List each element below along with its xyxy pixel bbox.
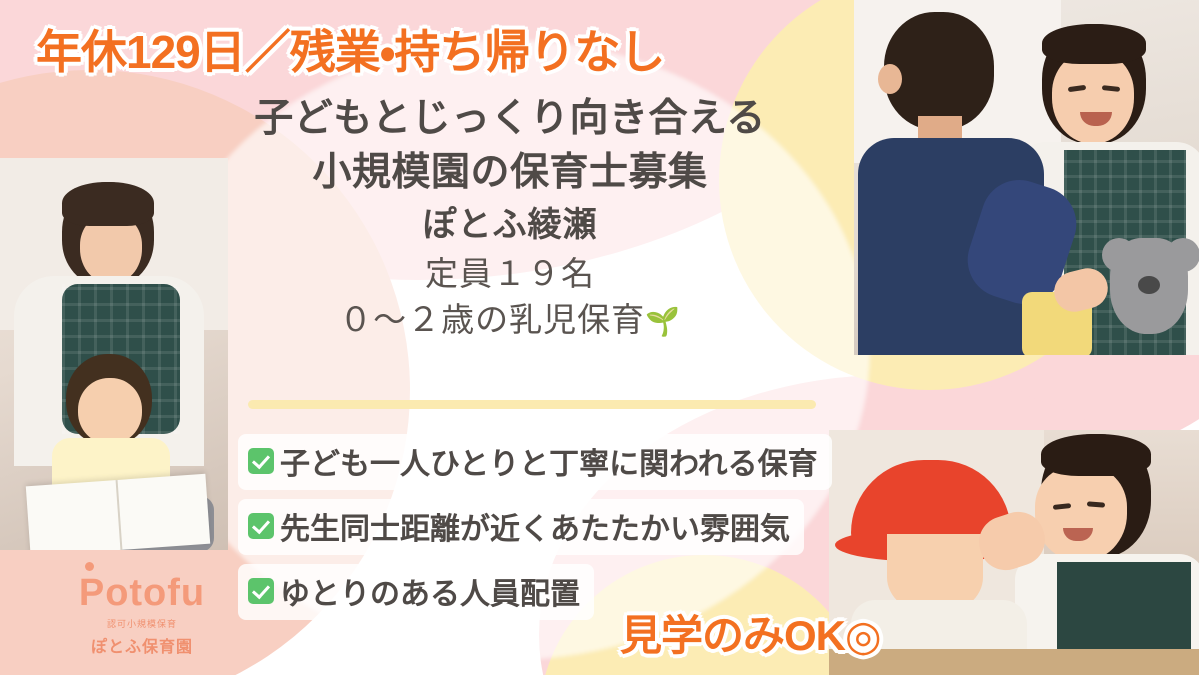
main-copy-line-2: 小規模園の保育士募集 [190,146,830,200]
capacity-text: 定員１９名 [190,251,830,298]
photo-teacher-with-child-in-red-hat [829,430,1199,675]
photo-teacher-smiling-with-boy-and-koala-plush [854,0,1199,355]
recruitment-poster: 年休129日／残業・持ち帰りなし 子どもとじっくり向き合える 小規模園の保育士募… [0,0,1199,675]
list-item-label: 先生同士距離が近くあたたかい雰囲気 [280,504,790,548]
logo-wordmark-text: Potofu [79,572,205,614]
list-item: 子ども一人ひとりと丁寧に関われる保育 [238,434,832,490]
list-item-label: ゆとりのある人員配置 [280,569,580,613]
potofu-logo: Potofu 認可小規模保育 ぽとふ保育園 [62,574,222,657]
logo-name: ぽとふ保育園 [62,633,222,657]
list-item: ゆとりのある人員配置 [238,564,594,620]
sprout-icon: 🌱 [645,306,681,337]
age-range-text: ０〜２歳の乳児保育🌱 [190,297,830,344]
visit-only-ok-note: 見学のみOK◎ [620,602,881,663]
age-range-label: ０〜２歳の乳児保育 [339,301,645,338]
check-mark-icon [248,448,274,474]
yellow-divider [248,400,816,409]
headline-banner: 年休129日／残業・持ち帰りなし [36,16,664,82]
check-mark-icon [248,578,274,604]
benefits-list: 子ども一人ひとりと丁寧に関われる保育 先生同士距離が近くあたたかい雰囲気 ゆとり… [238,434,832,629]
main-copy-block: 子どもとじっくり向き合える 小規模園の保育士募集 ぽとふ綾瀬 定員１９名 ０〜２… [190,92,830,344]
facility-name: ぽとふ綾瀬 [190,200,830,251]
list-item-label: 子ども一人ひとりと丁寧に関われる保育 [280,439,818,483]
list-item: 先生同士距離が近くあたたかい雰囲気 [238,499,804,555]
logo-wordmark: Potofu [79,574,205,612]
check-mark-icon [248,513,274,539]
logo-tagline: 認可小規模保育 [62,617,222,630]
logo-dot [85,562,94,571]
main-copy-line-1: 子どもとじっくり向き合える [190,92,830,146]
